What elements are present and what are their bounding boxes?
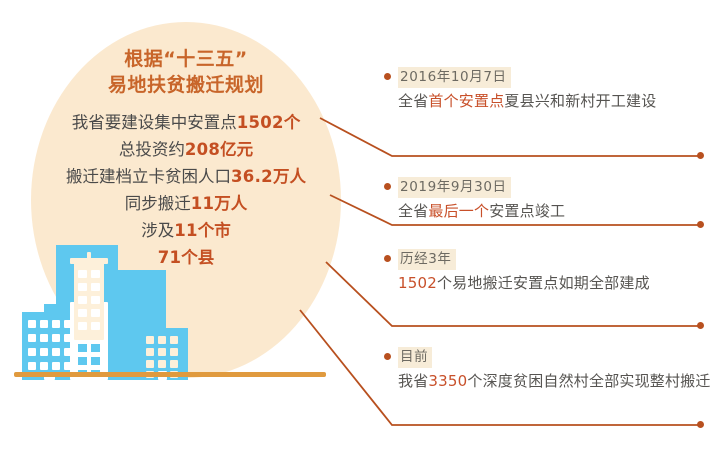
window [78,322,87,330]
window [158,360,166,368]
window [170,348,178,356]
stat-prefix: 同步搬迁 [125,194,191,213]
stat-unit: 个县 [181,248,214,267]
window [146,348,154,356]
window [78,270,87,278]
window [91,309,100,317]
stat-line: 我省要建设集中安置点1502个 [31,109,341,136]
stat-unit: 个市 [198,221,231,240]
window [158,348,166,356]
window [91,270,100,278]
timeline-entry[interactable]: 2016年10月7日 全省首个安置点夏县兴和新村开工建设 [398,66,714,112]
window [146,336,154,344]
window [146,360,154,368]
window [91,296,100,304]
window [28,362,36,370]
window [78,344,87,352]
entry-body-emphasis: 首个安置点 [428,92,504,110]
stat-line: 总投资约208亿元 [31,136,341,163]
window [52,348,60,356]
stat-unit: 个 [284,113,301,132]
window [40,362,48,370]
ground-line [14,372,326,377]
rule-end-dot [697,221,704,228]
headline-line-2: 易地扶贫搬迁规划 [31,72,341,98]
entry-body-post: 个易地搬迁安置点如期全部建成 [437,274,650,292]
stat-number: 11 [174,221,198,240]
bullet-dot-icon [384,255,391,262]
entry-body: 全省最后一个安置点竣工 [398,200,714,222]
timeline-entry[interactable]: 历经3年 1502个易地搬迁安置点如期全部建成 [398,248,714,294]
window [52,334,60,342]
infographic-canvas: 根据“十三五” 易地扶贫搬迁规划 我省要建设集中安置点1502个 总投资约208… [0,0,720,464]
timeline-entry[interactable]: 2019年9月30日 全省最后一个安置点竣工 [398,176,714,222]
entry-body-post: 个深度贫困自然村全部实现整村搬迁 [467,372,710,390]
window [91,283,100,291]
headline-line-1: 根据“十三五” [31,46,341,72]
entry-date: 2019年9月30日 [398,177,511,198]
entry-body-pre: 全省 [398,92,428,110]
entry-date: 2016年10月7日 [398,67,511,88]
stat-number: 36.2 [231,167,273,186]
rule-end-dot [697,421,704,428]
stat-prefix: 我省要建设集中安置点 [72,113,237,132]
entry-body-post: 夏县兴和新村开工建设 [504,92,656,110]
window [78,357,87,365]
window [170,360,178,368]
window [78,296,87,304]
connector-line-1 [320,118,700,156]
headline: 根据“十三五” 易地扶贫搬迁规划 [31,46,341,98]
window [40,320,48,328]
stat-line: 搬迁建档立卡贫困人口36.2万人 [31,163,341,190]
window [28,334,36,342]
window [28,348,36,356]
entry-date: 目前 [398,347,432,368]
window [91,322,100,330]
building-left-notch [44,304,56,314]
window [28,320,36,328]
stat-number: 11 [191,194,215,213]
window [78,309,87,317]
entry-body-emphasis: 1502 [398,274,437,292]
rule-end-dot [697,152,704,159]
stat-number: 1502 [237,113,284,132]
window [52,320,60,328]
circle-text-block: 根据“十三五” 易地扶贫搬迁规划 我省要建设集中安置点1502个 总投资约208… [31,46,341,271]
stat-line: 同步搬迁11万人 [31,190,341,217]
window [170,336,178,344]
entry-body: 1502个易地搬迁安置点如期全部建成 [398,272,714,294]
window [78,283,87,291]
stat-line: 涉及11个市 [31,217,341,244]
rule-end-dot [697,322,704,329]
entry-body: 全省首个安置点夏县兴和新村开工建设 [398,90,714,112]
window [40,334,48,342]
window [158,336,166,344]
entry-body-emphasis: 最后一个 [428,202,489,220]
entry-date: 历经3年 [398,249,456,270]
stat-prefix: 涉及 [141,221,174,240]
bullet-dot-icon [384,73,391,80]
window [91,344,100,352]
stat-number: 71 [158,248,182,267]
stat-unit: 亿元 [220,140,253,159]
stat-prefix: 总投资约 [119,140,185,159]
window [40,348,48,356]
timeline-entry[interactable]: 目前 我省3350个深度贫困自然村全部实现整村搬迁 [398,346,714,392]
bullet-dot-icon [384,183,391,190]
entry-body-pre: 全省 [398,202,428,220]
entry-body-post: 安置点竣工 [489,202,565,220]
stat-prefix: 搬迁建档立卡贫困人口 [66,167,231,186]
entry-body: 我省3350个深度贫困自然村全部实现整村搬迁 [398,370,714,392]
bullet-dot-icon [384,353,391,360]
window [91,357,100,365]
entry-body-emphasis: 3350 [428,372,467,390]
stat-number: 208 [185,140,220,159]
stat-unit: 万人 [273,167,306,186]
window [52,362,60,370]
stat-line: 71个县 [31,244,341,271]
stat-unit: 万人 [214,194,247,213]
entry-body-pre: 我省 [398,372,428,390]
